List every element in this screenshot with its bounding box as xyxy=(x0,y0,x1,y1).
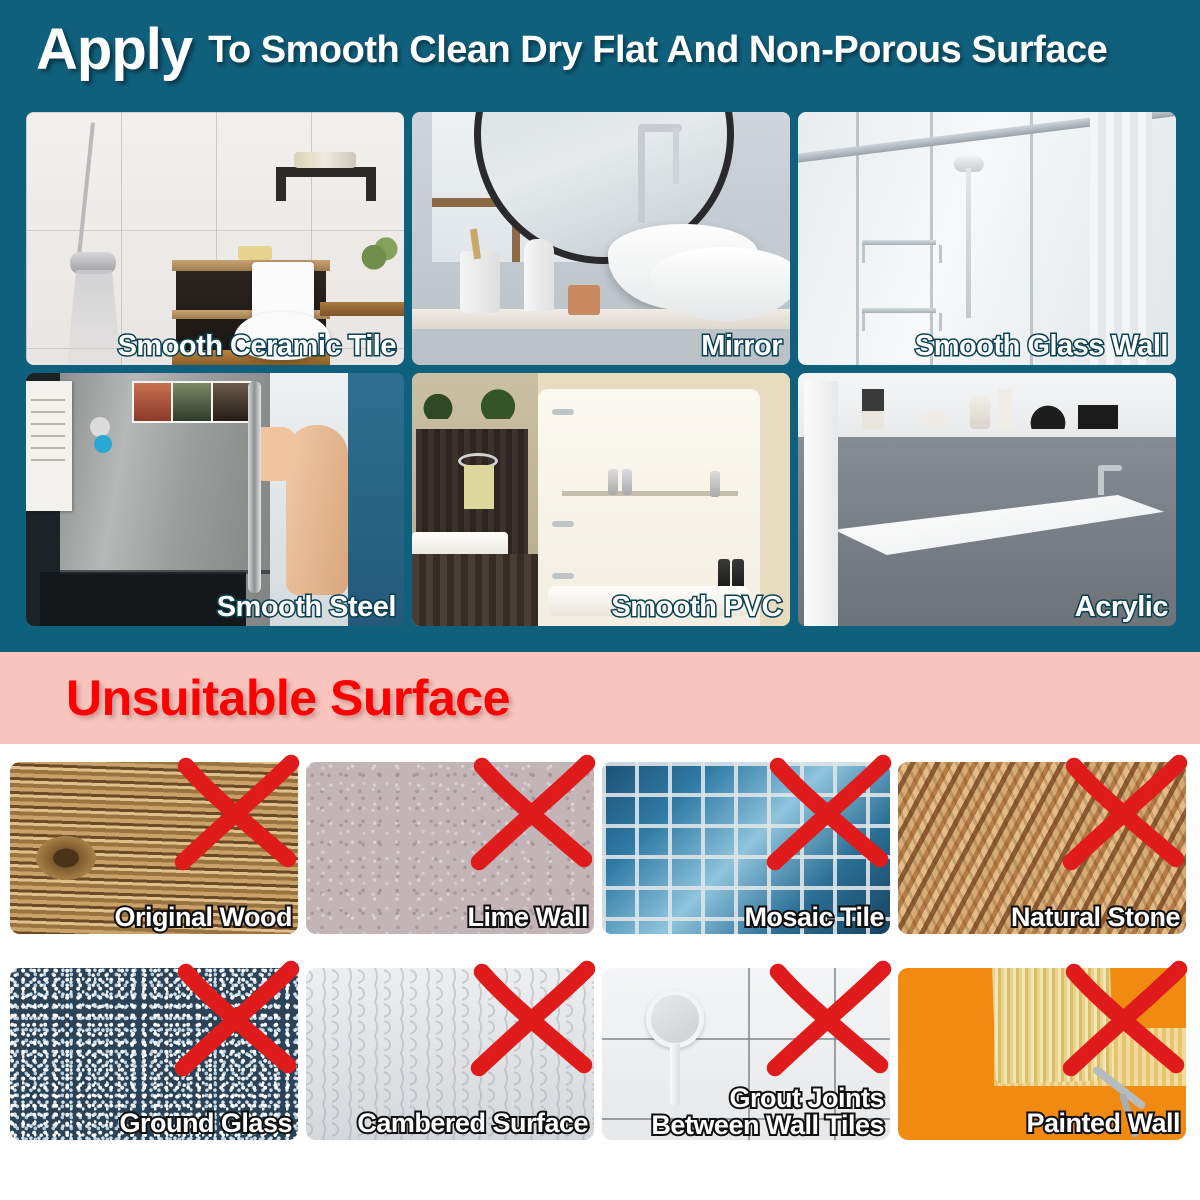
refrigerator-base xyxy=(40,572,246,626)
magnet-white xyxy=(90,417,110,437)
slim-bottle xyxy=(998,389,1012,429)
unsuitable-panel-ground-glass: Ground Glass xyxy=(10,968,298,1140)
unsuitable-panel-lime-wall: Lime Wall xyxy=(306,762,594,934)
glass-shelf-2 xyxy=(862,308,936,313)
pvc-shower-arm xyxy=(552,409,574,415)
panel-caption: Original Wood xyxy=(115,904,293,932)
wood-knot xyxy=(36,836,96,880)
pvc-bottle-1 xyxy=(608,469,618,495)
ceramic-tile-photo xyxy=(26,112,404,365)
suitable-panel-acrylic: Acrylic xyxy=(798,373,1176,626)
pvc-bottle-3 xyxy=(710,471,720,497)
panel-caption: Smooth Ceramic Tile xyxy=(118,330,396,363)
panel-caption: Smooth Steel xyxy=(217,591,396,624)
panel-caption-line1: Grout Joints xyxy=(651,1085,884,1113)
header-title-emphasis: Apply xyxy=(36,21,192,79)
reed-diffuser xyxy=(862,389,884,429)
vanity-cabinet xyxy=(412,554,538,626)
panel-caption: Smooth PVC xyxy=(611,591,782,624)
infographic-page: Apply To Smooth Clean Dry Flat And Non-P… xyxy=(0,0,1200,1200)
glass-wall-photo xyxy=(798,112,1176,365)
pvc-valve xyxy=(552,521,574,527)
panel-caption: Lime Wall xyxy=(467,904,588,932)
unsuitable-panel-natural-stone: Natural Stone xyxy=(898,762,1186,934)
unsuitable-surfaces-section: Original Wood Lime Wall Mosaic Tile xyxy=(0,744,1200,1200)
suitable-panel-grid: Smooth Ceramic Tile xyxy=(26,112,1176,634)
wall-shelf xyxy=(276,167,376,177)
small-pot xyxy=(568,285,600,315)
fridge-photo-strip xyxy=(132,381,252,423)
suitable-surfaces-section: Apply To Smooth Clean Dry Flat And Non-P… xyxy=(0,0,1200,652)
pvc-bottle-2 xyxy=(622,469,632,495)
faucet-secondary xyxy=(673,128,679,184)
black-box xyxy=(1078,405,1118,429)
smooth-pvc-photo xyxy=(412,373,790,626)
panel-caption: Mosaic Tile xyxy=(744,904,884,932)
unsuitable-panel-mosaic-tile: Mosaic Tile xyxy=(602,762,890,934)
white-vase xyxy=(970,395,990,429)
refrigerator-handle xyxy=(248,381,261,593)
adhesive-hook-ring xyxy=(646,990,704,1048)
grout-line-horizontal-1 xyxy=(602,1038,890,1040)
black-bowl-plant xyxy=(1028,399,1068,429)
panel-caption: Acrylic xyxy=(1075,591,1168,624)
panel-caption: Grout Joints Between Wall Tiles xyxy=(651,1085,884,1140)
stone-decor xyxy=(922,411,948,429)
plant-icon-right xyxy=(476,377,520,419)
pvc-tub-spout xyxy=(552,573,574,579)
plant-icon xyxy=(358,232,398,274)
side-counter xyxy=(320,302,404,316)
shelf-decor-items xyxy=(858,387,1108,429)
shelf-items xyxy=(294,152,356,168)
unsuitable-panel-grout-joints: Grout Joints Between Wall Tiles xyxy=(602,968,890,1140)
smooth-steel-photo xyxy=(26,373,404,626)
notepad xyxy=(26,381,72,511)
unsuitable-panel-original-wood: Original Wood xyxy=(10,762,298,934)
curtain-panel xyxy=(1090,112,1152,365)
wall-shelf-bracket-right xyxy=(366,167,376,201)
soap-bottle xyxy=(524,239,554,311)
acrylic-photo xyxy=(798,373,1176,626)
handheld-shower-hose xyxy=(966,168,971,318)
white-pillar xyxy=(804,381,838,626)
panel-caption: Smooth Glass Wall xyxy=(915,330,1168,363)
acrylic-faucet-stem xyxy=(1098,467,1104,495)
suitable-panel-glass-wall: Smooth Glass Wall xyxy=(798,112,1176,365)
faucet-stem xyxy=(638,128,645,223)
toothbrush-cup xyxy=(460,251,500,313)
suitable-panel-mirror: Mirror xyxy=(412,112,790,365)
hand-towel xyxy=(464,465,494,509)
unsuitable-title: Unsuitable Surface xyxy=(66,669,510,727)
panel-caption: Mirror xyxy=(701,330,782,363)
plant-icon-left xyxy=(420,383,456,419)
soap-bar xyxy=(238,246,272,260)
header-title-rest: To Smooth Clean Dry Flat And Non-Porous … xyxy=(208,31,1107,69)
panel-caption: Ground Glass xyxy=(119,1110,292,1138)
header-bar: Apply To Smooth Clean Dry Flat And Non-P… xyxy=(0,0,1200,100)
suitable-panel-smooth-pvc: Smooth PVC xyxy=(412,373,790,626)
magnet-blue xyxy=(94,435,112,453)
unsuitable-panel-cambered-surface: Cambered Surface xyxy=(306,968,594,1140)
suitable-panel-ceramic-tile: Smooth Ceramic Tile xyxy=(26,112,404,365)
wall-shelf-bracket-left xyxy=(276,167,286,201)
unsuitable-title-band: Unsuitable Surface xyxy=(0,652,1200,744)
panel-caption-line2: Between Wall Tiles xyxy=(651,1112,884,1140)
unsuitable-panel-painted-wall: Painted Wall xyxy=(898,968,1186,1140)
glass-mullion-3 xyxy=(1030,112,1033,365)
panel-caption: Natural Stone xyxy=(1011,904,1180,932)
panel-caption: Painted Wall xyxy=(1026,1110,1180,1138)
person-jeans xyxy=(348,373,404,626)
suitable-panel-smooth-steel: Smooth Steel xyxy=(26,373,404,626)
mirror-photo xyxy=(412,112,790,365)
unsuitable-panel-grid: Original Wood Lime Wall Mosaic Tile xyxy=(10,762,1190,1186)
glass-shelf-1 xyxy=(862,240,936,245)
panel-caption: Cambered Surface xyxy=(357,1110,588,1138)
